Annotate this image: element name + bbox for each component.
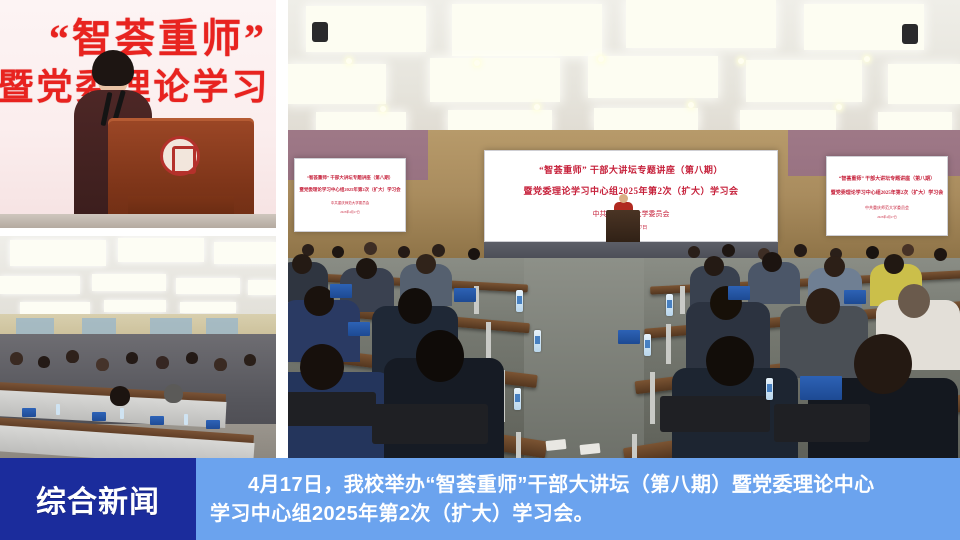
- attendee-head: [186, 352, 198, 364]
- ceiling-light-panel: [594, 108, 698, 130]
- name-card: [454, 288, 476, 302]
- screen-title-line-1: “智荟重师” 干部大讲坛专题讲座（第八期）: [485, 163, 777, 176]
- category-badge-label: 综合新闻: [36, 477, 160, 521]
- chair-back: [774, 404, 870, 442]
- attendee-head: [934, 248, 947, 261]
- attendee-head: [688, 246, 700, 258]
- water-bottle: [534, 330, 541, 352]
- attendee-head: [706, 336, 754, 386]
- attendee-head-front: [164, 384, 183, 403]
- name-card: [206, 420, 220, 429]
- downlight-icon: [864, 56, 870, 62]
- side-projection-screen-right: “智荟重师” 干部大讲坛专题讲座（第八期） 暨党委理论学习中心组2025年第2次…: [826, 156, 948, 236]
- ceiling-light-panel: [740, 110, 836, 132]
- attendee-head: [96, 358, 109, 371]
- screen-date: 2025年4月17日: [827, 215, 947, 219]
- attendee-head: [722, 244, 735, 257]
- ceiling-light-panel: [92, 274, 166, 291]
- attendee-head: [432, 244, 445, 257]
- water-bottle: [184, 414, 188, 425]
- attendee-head: [704, 256, 724, 276]
- attendee-head: [902, 244, 914, 256]
- screen-organizer: 中共重庆师范大学委员会: [295, 201, 405, 206]
- side-projection-screen-left: “智荟重师” 干部大讲坛专题讲座（第八期） 暨党委理论学习中心组2025年第2次…: [294, 158, 406, 232]
- speaker-hair: [92, 50, 134, 86]
- name-card: [330, 284, 352, 298]
- attendee-head: [468, 248, 480, 260]
- name-card: [618, 330, 640, 344]
- attendee-head: [398, 288, 432, 324]
- water-bottle: [766, 378, 773, 400]
- caption-text-block: 4月17日，我校举办“智荟重师”干部大讲坛（第八期）暨党委理论中心 学习中心组2…: [196, 458, 960, 540]
- attendee-head: [364, 242, 377, 255]
- projector-icon: [312, 22, 328, 42]
- attendee-head: [762, 252, 782, 272]
- attendee-head: [854, 334, 912, 394]
- photo-collage: “智荟重师” 暨党委理论学习: [0, 0, 960, 458]
- ceiling-light-panel: [588, 56, 718, 98]
- water-bottle: [666, 294, 673, 316]
- caption-line-2: 学习中心组2025年第2次（扩大）学习会。: [210, 500, 946, 529]
- attendee-head: [292, 254, 312, 274]
- stage-floor: [0, 214, 276, 228]
- ceiling-light-panel: [10, 240, 106, 266]
- screen-title-line-2: 暨党委理论学习中心组2025年第2次（扩大）学习会: [827, 189, 947, 196]
- downlight-icon: [738, 58, 744, 64]
- screen-date: 2025年4月17日: [295, 210, 405, 214]
- downlight-icon: [534, 104, 540, 110]
- category-badge: 综合新闻: [0, 458, 196, 540]
- water-bottle: [514, 388, 521, 410]
- attendee-head: [398, 246, 410, 258]
- ceiling-light-panel: [20, 302, 90, 314]
- downlight-icon: [598, 56, 604, 62]
- ceiling-light-panel: [248, 280, 276, 295]
- downlight-icon: [836, 104, 842, 110]
- audience-side-view-photo: [0, 236, 276, 458]
- ceiling-light-panel: [746, 60, 862, 102]
- ceiling-light-panel: [452, 4, 602, 56]
- name-card: [728, 286, 750, 300]
- ceiling-light-panel: [288, 64, 386, 104]
- ceiling-light-panel: [214, 242, 276, 264]
- name-card: [800, 376, 842, 400]
- name-card: [348, 322, 370, 336]
- name-card: [150, 416, 164, 425]
- stage-podium: [606, 210, 640, 244]
- attendee-head: [794, 244, 807, 257]
- desk-leg: [486, 322, 491, 362]
- attendee-head-front: [110, 386, 130, 406]
- name-card: [844, 290, 866, 304]
- name-card: [92, 412, 106, 421]
- water-bottle: [644, 334, 651, 356]
- downlight-icon: [474, 60, 480, 66]
- handout-booklet: [546, 439, 567, 451]
- attendee-head: [244, 354, 256, 366]
- caption-bar: 综合新闻 4月17日，我校举办“智荟重师”干部大讲坛（第八期）暨党委理论中心 学…: [0, 458, 960, 540]
- ceiling-light-panel: [104, 300, 166, 312]
- water-bottle: [516, 290, 523, 312]
- attendee-head: [806, 288, 840, 324]
- ceiling-light-panel: [0, 276, 80, 294]
- attendee-head: [66, 350, 79, 363]
- downlight-icon: [380, 106, 386, 112]
- screen-title-line-2: 暨党委理论学习中心组2025年第2次（扩大）学习会: [295, 187, 405, 193]
- caption-line-1: 4月17日，我校举办“智荟重师”干部大讲坛（第八期）暨党委理论中心: [210, 471, 946, 500]
- screen-organizer: 中共重庆师范大学委员会: [827, 205, 947, 211]
- ceiling-light-panel: [176, 278, 240, 294]
- attendee-head: [824, 256, 845, 277]
- attendee-head: [126, 352, 138, 364]
- attendee-head: [898, 284, 930, 318]
- water-bottle: [56, 404, 60, 415]
- downlight-icon: [346, 58, 352, 64]
- attendee-head: [300, 344, 344, 390]
- desk-leg: [516, 432, 521, 458]
- conference-hall-photo: “智荟重师” 干部大讲坛专题讲座（第八期） 暨党委理论学习中心组2025年第2次…: [288, 0, 960, 458]
- news-image-card: “智荟重师” 暨党委理论学习: [0, 0, 960, 540]
- screen-title-line-1: “智荟重师” 干部大讲坛专题讲座（第八期）: [295, 175, 405, 181]
- speaker-at-podium-photo: “智荟重师” 暨党委理论学习: [0, 0, 276, 228]
- attendee-head: [332, 246, 344, 258]
- ceiling-light-panel: [430, 58, 560, 102]
- ceiling-light-panel: [888, 64, 960, 104]
- attendee-head: [416, 330, 464, 382]
- attendee-head: [156, 356, 169, 369]
- presenter-head: [619, 194, 628, 203]
- name-card: [22, 408, 36, 417]
- ceiling-light-panel: [626, 0, 776, 48]
- attendee-head: [884, 254, 904, 274]
- desk-leg: [632, 434, 637, 458]
- ceiling-light-panel: [118, 238, 204, 262]
- attendee-head: [866, 246, 879, 259]
- attendee-head: [356, 258, 377, 279]
- handout-booklet: [580, 443, 601, 455]
- attendee-head: [416, 254, 436, 274]
- ceiling-light-panel: [180, 302, 236, 313]
- chair-back: [372, 404, 488, 444]
- chair-back: [660, 396, 770, 432]
- desk-leg: [650, 372, 655, 424]
- desk-leg: [666, 324, 671, 364]
- desk-leg: [680, 286, 685, 314]
- attendee-head: [214, 358, 227, 371]
- downlight-icon: [688, 102, 694, 108]
- attendee-head: [38, 356, 50, 368]
- attendee-head: [10, 352, 23, 365]
- water-bottle: [120, 408, 124, 419]
- center-aisle: [524, 258, 644, 458]
- screen-title-line-1: “智荟重师” 干部大讲坛专题讲座（第八期）: [827, 175, 947, 182]
- university-emblem: [160, 136, 200, 176]
- chair-back: [288, 392, 376, 426]
- projector-icon: [902, 24, 918, 44]
